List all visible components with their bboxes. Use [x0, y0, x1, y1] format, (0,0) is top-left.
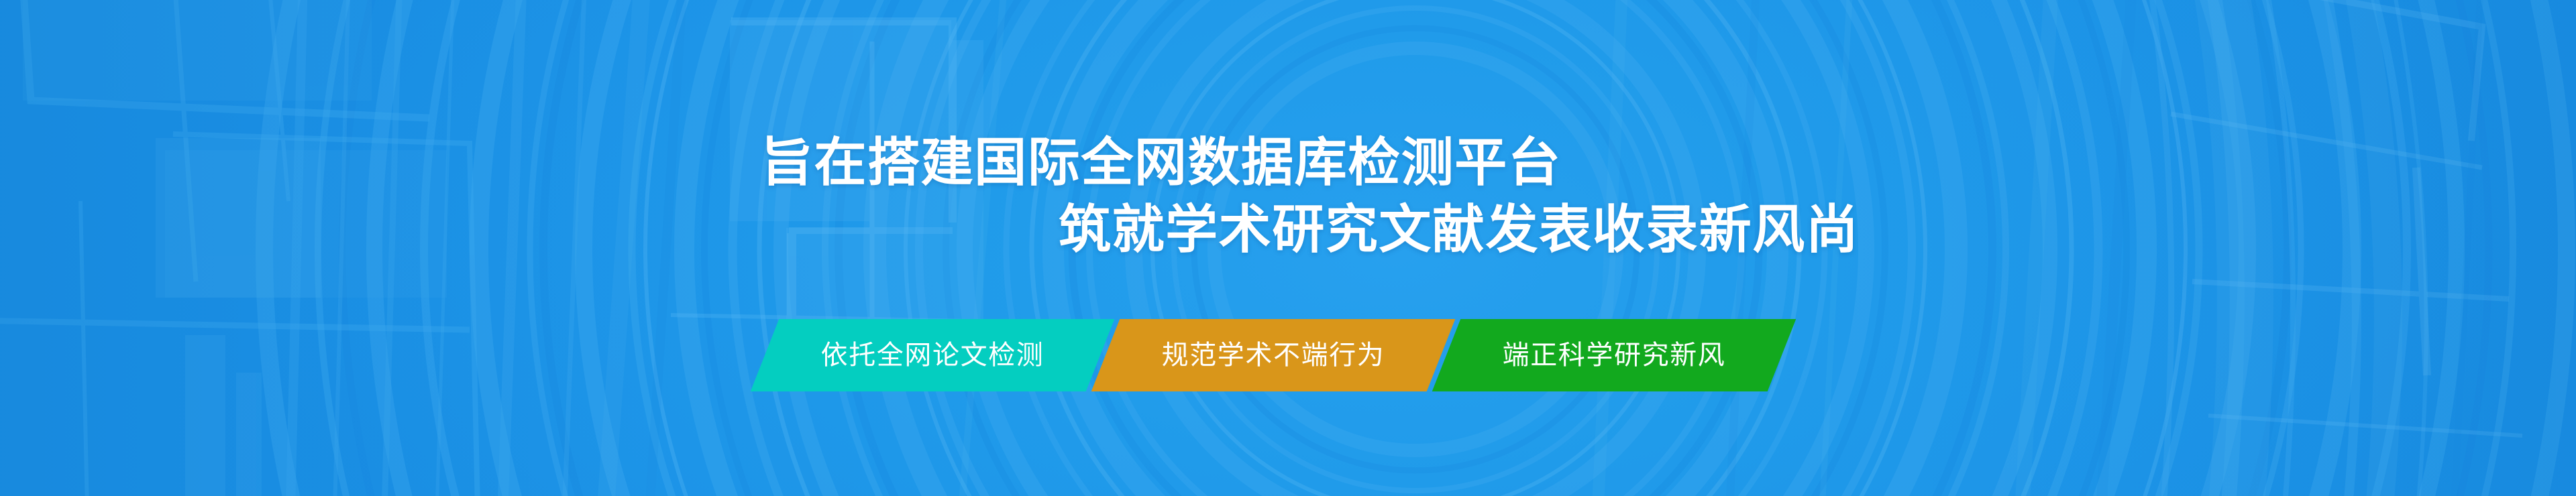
feature-tag-strip: 依托全网论文检测 规范学术不端行为 端正科学研究新风: [765, 319, 1782, 391]
headline-line-1: 旨在搭建国际全网数据库检测平台: [0, 131, 2576, 193]
feature-tag-3-label: 端正科学研究新风: [1503, 319, 1726, 391]
headline-line-2: 筑就学术研究文献发表收录新风尚: [0, 198, 2576, 260]
feature-tag-3[interactable]: 端正科学研究新风: [1446, 319, 1782, 391]
feature-tag-1[interactable]: 依托全网论文检测: [765, 319, 1100, 391]
feature-tag-2[interactable]: 规范学术不端行为: [1106, 319, 1441, 391]
promo-banner: 旨在搭建国际全网数据库检测平台 筑就学术研究文献发表收录新风尚 依托全网论文检测…: [0, 0, 2576, 496]
feature-tag-1-label: 依托全网论文检测: [821, 319, 1044, 391]
banner-content: 旨在搭建国际全网数据库检测平台 筑就学术研究文献发表收录新风尚 依托全网论文检测…: [0, 0, 2576, 496]
feature-tag-2-label: 规范学术不端行为: [1162, 319, 1385, 391]
